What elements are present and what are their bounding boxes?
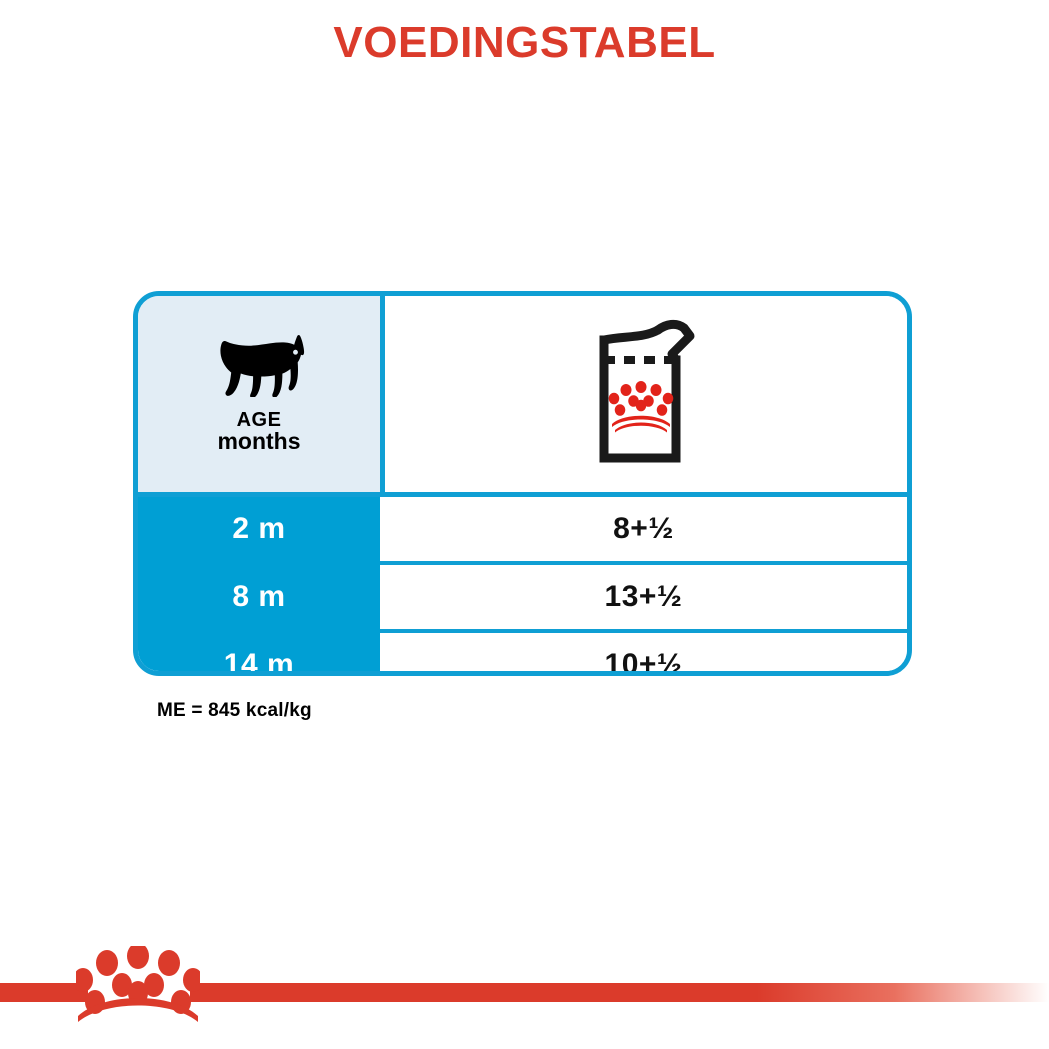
header-cell-age: AGE months	[138, 296, 380, 492]
royal-canin-crown-logo	[76, 946, 200, 1027]
metabolisable-energy-note: ME = 845 kcal/kg	[157, 700, 312, 722]
cell-amount: 13+½	[380, 565, 907, 629]
column-divider	[380, 296, 385, 492]
header-age-line2: months	[217, 430, 300, 453]
table-header-row: AGE months	[138, 296, 907, 492]
cell-age: 14 m	[138, 633, 380, 676]
feeding-table: AGE months	[133, 291, 912, 676]
table-row: 14 m 10+½	[138, 633, 907, 676]
header-cell-product	[380, 296, 907, 492]
cell-age: 8 m	[138, 565, 380, 629]
pouch-sachet-icon	[584, 316, 704, 473]
page-title: VOEDINGSTABEL	[0, 18, 1049, 68]
cell-amount: 8+½	[380, 497, 907, 561]
dog-silhouette-icon	[211, 335, 307, 402]
brand-bar-right-segment	[190, 983, 1049, 1002]
header-age-label: AGE months	[217, 410, 300, 454]
cell-amount: 10+½	[380, 633, 907, 676]
cell-age: 2 m	[138, 497, 380, 561]
table-row: 8 m 13+½	[138, 565, 907, 629]
table-row: 2 m 8+½	[138, 497, 907, 561]
header-age-line1: AGE	[217, 410, 300, 430]
brand-bar-left-segment	[0, 983, 88, 1002]
